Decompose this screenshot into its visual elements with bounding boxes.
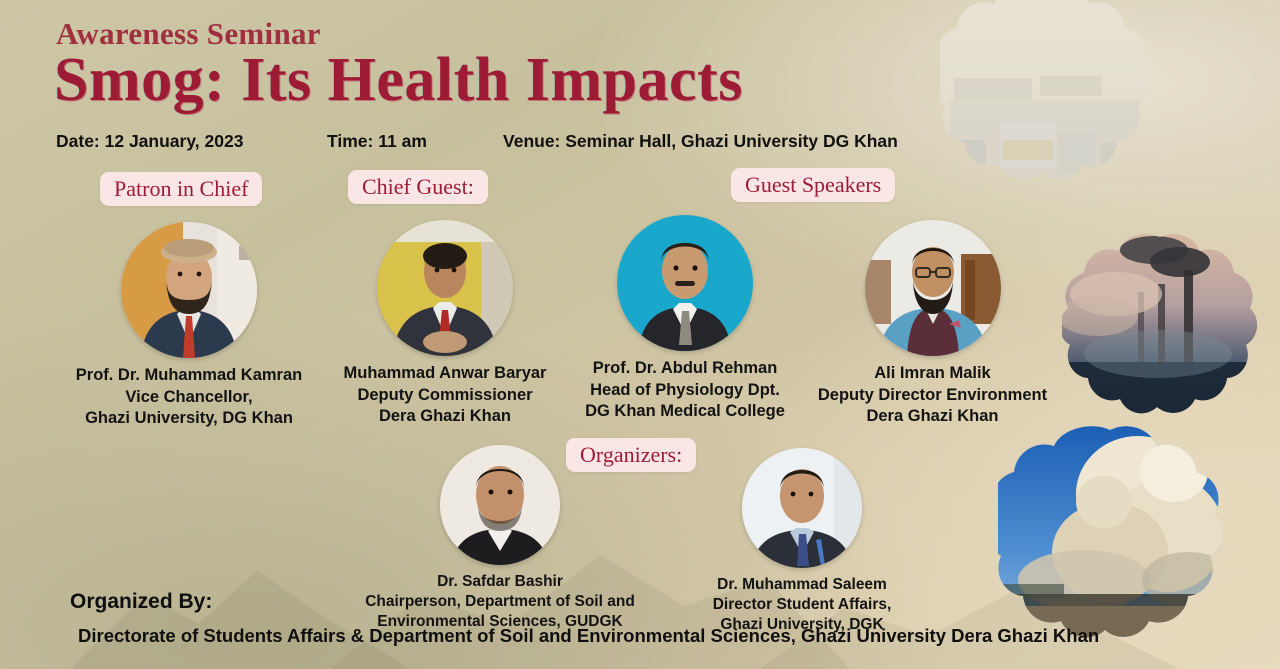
organized-by-detail: Directorate of Students Affairs & Depart… bbox=[78, 625, 1099, 647]
portrait-bashir-avatar bbox=[440, 445, 560, 565]
badge-chief-guest: Chief Guest: bbox=[348, 170, 488, 204]
person-affiliation: Ghazi University, DG Khan bbox=[69, 408, 309, 430]
crop-burning-smoke-photo bbox=[998, 424, 1222, 654]
person-name: Dr. Muhammad Saleem bbox=[672, 575, 932, 595]
badge-guest-speakers: Guest Speakers bbox=[731, 168, 895, 202]
portrait-saleem-avatar bbox=[742, 448, 862, 568]
person-role: Deputy Director Environment bbox=[800, 385, 1065, 407]
seminar-poster: Awareness Seminar Smog: Its Health Impac… bbox=[0, 0, 1280, 669]
person-name: Dr. Safdar Bashir bbox=[335, 572, 665, 592]
person-card: Dr. Muhammad Saleem Director Student Aff… bbox=[672, 448, 932, 635]
person-name: Prof. Dr. Abdul Rehman bbox=[560, 358, 810, 380]
portrait-kamran-avatar bbox=[121, 222, 257, 358]
person-name: Muhammad Anwar Baryar bbox=[325, 363, 565, 385]
person-role: Director Student Affairs, bbox=[672, 595, 932, 615]
person-role: Chairperson, Department of Soil and bbox=[335, 592, 665, 612]
person-role: Head of Physiology Dpt. bbox=[560, 380, 810, 402]
person-affiliation: DG Khan Medical College bbox=[560, 401, 810, 423]
person-card: Ali Imran Malik Deputy Director Environm… bbox=[800, 220, 1065, 428]
page-title: Smog: Its Health Impacts bbox=[54, 48, 743, 113]
person-card: Dr. Safdar Bashir Chairperson, Departmen… bbox=[335, 445, 665, 632]
person-role: Deputy Commissioner bbox=[325, 385, 565, 407]
event-date: Date: 12 January, 2023 bbox=[56, 131, 243, 152]
smoggy-traffic-photo bbox=[940, 0, 1150, 197]
organized-by-label: Organized By: bbox=[70, 590, 212, 614]
badge-patron-in-chief: Patron in Chief bbox=[100, 172, 262, 206]
person-affiliation: Dera Ghazi Khan bbox=[325, 406, 565, 428]
portrait-rehman-avatar bbox=[617, 215, 753, 351]
event-meta: Date: 12 January, 2023 Time: 11 am Venue… bbox=[56, 131, 1056, 155]
person-role: Vice Chancellor, bbox=[69, 387, 309, 409]
factory-smokestacks-photo bbox=[1062, 232, 1258, 422]
person-name: Ali Imran Malik bbox=[800, 363, 1065, 385]
event-venue: Venue: Seminar Hall, Ghazi University DG… bbox=[503, 131, 898, 152]
person-card: Prof. Dr. Abdul Rehman Head of Physiolog… bbox=[560, 215, 810, 423]
person-name: Prof. Dr. Muhammad Kamran bbox=[69, 365, 309, 387]
event-time: Time: 11 am bbox=[327, 131, 427, 152]
person-card: Muhammad Anwar Baryar Deputy Commissione… bbox=[325, 220, 565, 428]
person-card: Prof. Dr. Muhammad Kamran Vice Chancello… bbox=[69, 222, 309, 430]
portrait-malik-avatar bbox=[865, 220, 1001, 356]
person-affiliation: Dera Ghazi Khan bbox=[800, 406, 1065, 428]
portrait-baryar-avatar bbox=[377, 220, 513, 356]
